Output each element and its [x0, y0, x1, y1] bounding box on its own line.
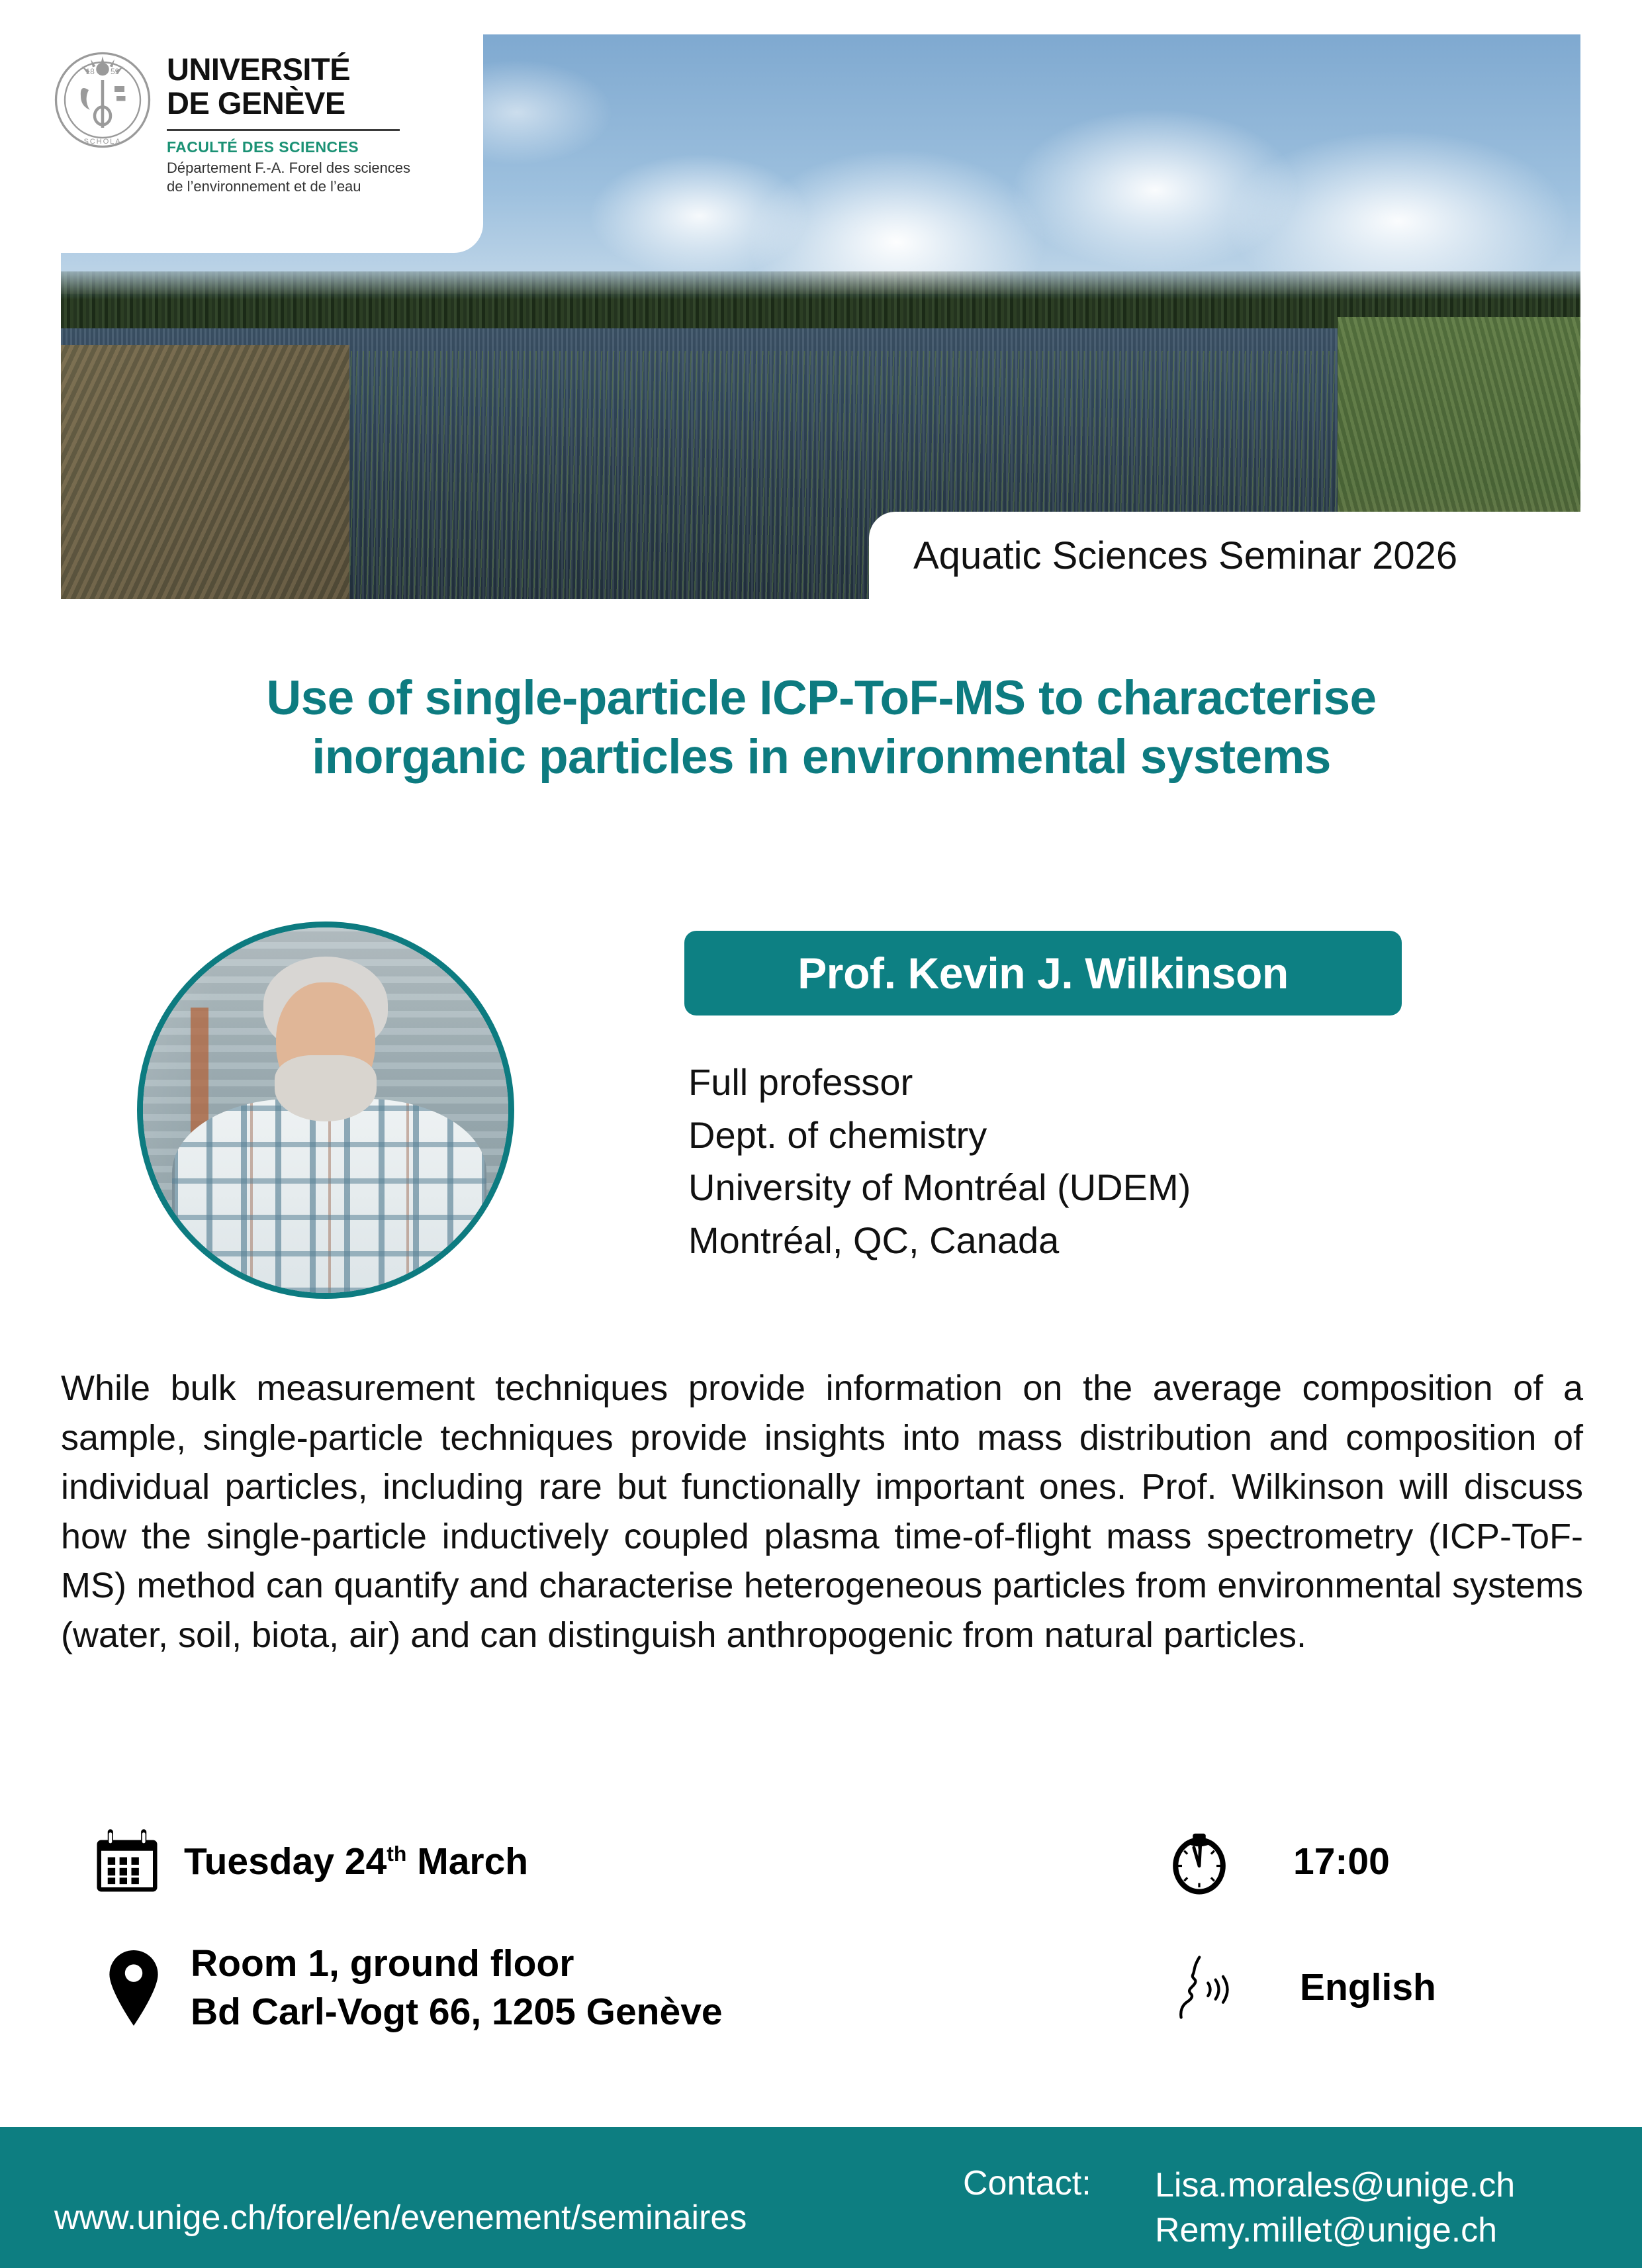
event-location: Room 1, ground floor Bd Carl-Vogt 66, 12… [191, 1940, 723, 2036]
seminar-series-ribbon: Aquatic Sciences Seminar 2026 [869, 512, 1642, 599]
portrait-shirt [172, 1099, 486, 1293]
affiliation-line-2: Dept. of chemistry [688, 1109, 1549, 1162]
map-pin-icon [106, 1949, 161, 2027]
banner-left-shore [61, 345, 349, 599]
speaker-name: Prof. Kevin J. Wilkinson [798, 948, 1289, 998]
affiliation-line-3: University of Montréal (UDEM) [688, 1161, 1549, 1214]
talk-title-line1: Use of single-particle ICP-ToF-MS to cha… [64, 669, 1579, 728]
university-name-line1: UNIVERSITÉ [167, 53, 410, 87]
unige-seal-icon: 18 59 SCHOLA [53, 50, 152, 150]
footer-email-1[interactable]: Lisa.morales@unige.ch [1155, 2163, 1515, 2208]
speaker-name-badge: Prof. Kevin J. Wilkinson [684, 931, 1402, 1016]
logo-divider [167, 129, 400, 131]
footer-email-2[interactable]: Remy.millet@unige.ch [1155, 2208, 1515, 2253]
svg-text:59: 59 [111, 67, 120, 76]
event-date-day: Tuesday 24 [184, 1840, 387, 1883]
detail-row-date: Tuesday 24th March [93, 1827, 528, 1896]
abstract-text: While bulk measurement techniques provid… [61, 1364, 1583, 1660]
location-line1: Room 1, ground floor [191, 1942, 574, 1985]
event-date: Tuesday 24th March [184, 1838, 528, 1886]
svg-text:SCHOLA: SCHOLA [83, 138, 121, 146]
detail-row-time: 17:00 [1165, 1827, 1390, 1896]
portrait-beard [275, 1055, 377, 1121]
footer-website-link[interactable]: www.unige.ch/forel/en/evenement/seminair… [54, 2198, 747, 2238]
svg-text:18: 18 [86, 67, 95, 76]
affiliation-line-1: Full professor [688, 1056, 1549, 1109]
stopwatch-icon [1165, 1827, 1234, 1896]
event-time: 17:00 [1293, 1838, 1390, 1886]
footer-contact-label: Contact: [963, 2163, 1091, 2203]
affiliation-line-4: Montréal, QC, Canada [688, 1214, 1549, 1267]
detail-row-location: Room 1, ground floor Bd Carl-Vogt 66, 12… [106, 1940, 723, 2036]
university-logo-card: 18 59 SCHOLA UNIVERSITÉ DE GENÈVE FACULT… [0, 0, 483, 253]
event-date-ordinal: th [387, 1842, 406, 1866]
footer-contact-emails: Lisa.morales@unige.ch Remy.millet@unige.… [1155, 2163, 1515, 2253]
calendar-icon [93, 1827, 161, 1896]
department-name-line1: Département F.-A. Forel des sciences [167, 159, 410, 177]
speaker-affiliation: Full professor Dept. of chemistry Univer… [688, 1056, 1549, 1266]
department-name-line2: de l’environnement et de l’eau [167, 177, 410, 196]
university-name-line2: DE GENÈVE [167, 87, 410, 120]
event-language: English [1300, 1963, 1436, 2012]
speaker-portrait [137, 921, 514, 1299]
detail-row-language: English [1171, 1953, 1436, 2022]
talk-title-line2: inorganic particles in environmental sys… [64, 728, 1579, 786]
talk-title: Use of single-particle ICP-ToF-MS to cha… [64, 669, 1579, 786]
speaking-head-icon [1171, 1953, 1240, 2022]
logo-text-block: UNIVERSITÉ DE GENÈVE FACULTÉ DES SCIENCE… [167, 50, 410, 196]
logo-inner: 18 59 SCHOLA UNIVERSITÉ DE GENÈVE FACULT… [53, 50, 410, 196]
faculty-name: FACULTÉ DES SCIENCES [167, 138, 410, 156]
location-line2: Bd Carl-Vogt 66, 1205 Genève [191, 1991, 723, 2033]
footer-bar: www.unige.ch/forel/en/evenement/seminair… [0, 2127, 1642, 2268]
seminar-series-label: Aquatic Sciences Seminar 2026 [869, 534, 1457, 578]
event-date-month: March [406, 1840, 528, 1883]
